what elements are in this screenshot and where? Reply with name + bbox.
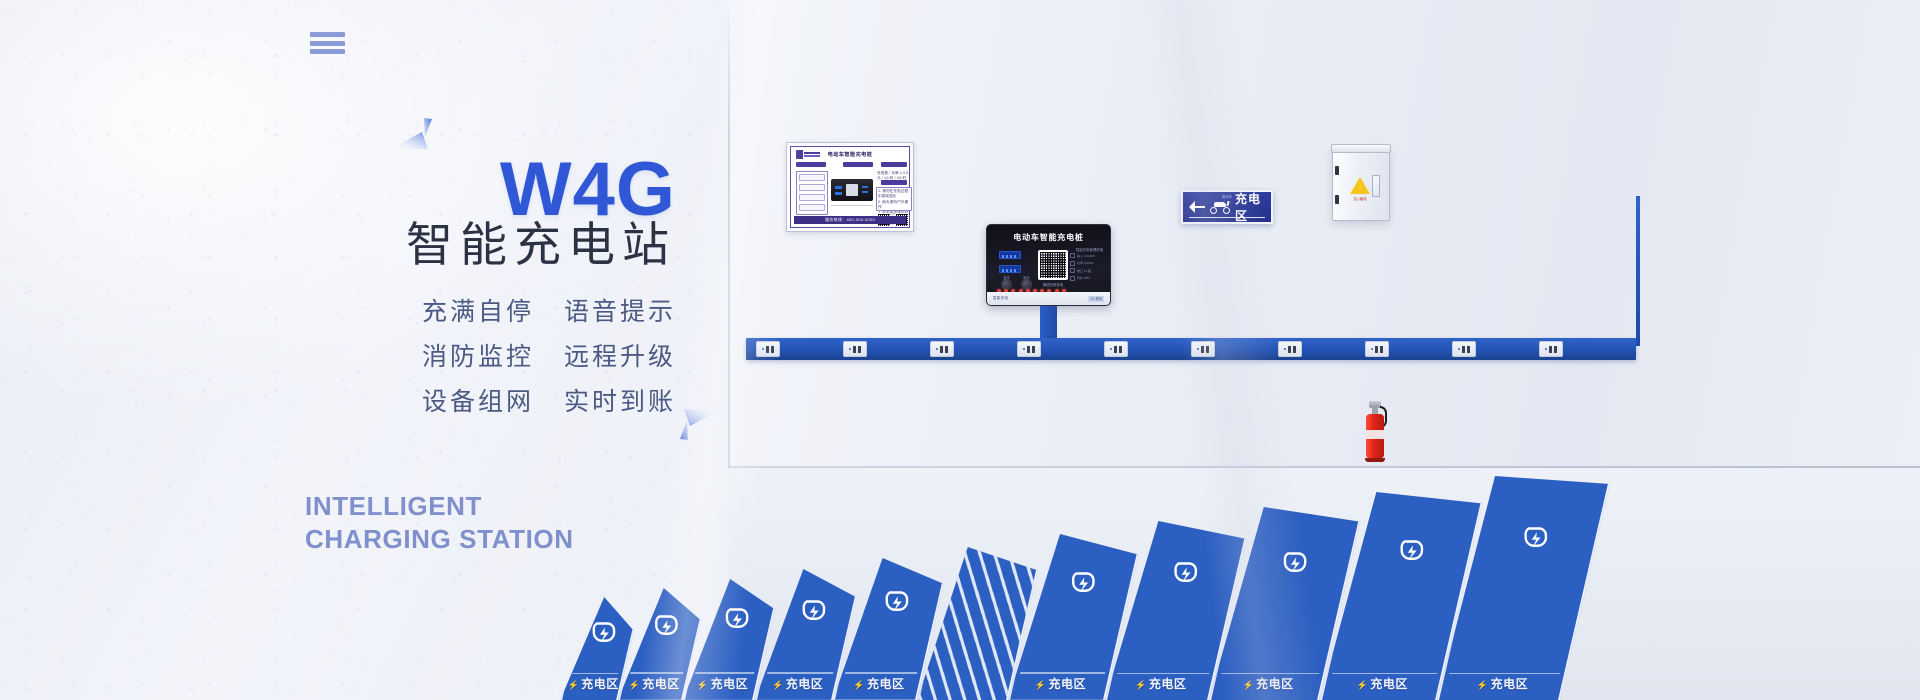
charging-pile-spec-row: 功率 1200W	[1070, 261, 1104, 266]
poster-section-right-bar	[881, 162, 907, 167]
poster-device-illustration	[831, 179, 873, 201]
charging-pile-qr-caption: 微信扫码充电	[1031, 282, 1075, 287]
parking-bay-label: ⚡充电区	[1442, 675, 1561, 692]
fire-extinguisher-icon	[1363, 400, 1387, 462]
parking-bay-stripe	[695, 673, 755, 675]
parking-bay-stripe	[1332, 673, 1437, 675]
parking-bay-label: ⚡充电区	[1325, 675, 1438, 692]
poster-price-text: 充电费 / 功率 ≤ 0.5元 / 1小时 / 4小时	[877, 171, 911, 182]
direction-sign-underline	[1189, 217, 1265, 218]
parking-bay-stripe	[572, 673, 619, 675]
scooter-icon	[1210, 201, 1230, 214]
power-socket-icon[interactable]	[1191, 341, 1215, 357]
parking-bay-label: ⚡充电区	[624, 675, 685, 692]
feature-list: 充满自停 语音提示 消防监控 远程升级 设备组网 实时到账	[422, 292, 676, 418]
power-socket-icon[interactable]	[1365, 341, 1389, 357]
charging-plug-icon	[799, 598, 829, 626]
extinguisher-label-band	[1366, 430, 1384, 439]
hero-banner: W4G 智能充电站 充满自停 语音提示 消防监控 远程升级 设备组网 实时到账 …	[0, 0, 1920, 700]
poster-footer-text: 服务热线：400-000-0000	[825, 217, 875, 223]
parking-bay-label: ⚡充电区	[1215, 675, 1321, 692]
cabinet-warning-text: 当心触电	[1345, 196, 1375, 201]
parking-bay-stripe	[1449, 673, 1561, 675]
direction-sign: 电动车 充电区	[1181, 190, 1273, 224]
charging-pile-display-2	[999, 265, 1021, 273]
charging-pile-brand: 智能充电	[993, 296, 1008, 301]
power-socket-icon[interactable]	[1104, 341, 1128, 357]
rail-power-feed-line	[1636, 196, 1640, 346]
power-socket-icon[interactable]	[756, 341, 780, 357]
feature-item-1: 充满自停	[422, 292, 534, 328]
charging-pile-display-1	[999, 251, 1021, 259]
power-socket-icon[interactable]	[1278, 341, 1302, 357]
left-arrow-icon	[1189, 201, 1205, 213]
charging-pile-mount-stem	[1040, 306, 1057, 342]
charging-pile-card-label: 刷卡	[1018, 275, 1035, 280]
parking-bay-stripe	[767, 673, 833, 675]
parking-lot: ⚡充电区⚡充电区⚡充电区⚡充电区⚡充电区⚡充电区⚡充电区⚡充电区⚡充电区⚡充电区	[560, 462, 1560, 700]
wall-corner-edge	[728, 0, 730, 470]
feature-item-5: 设备组网	[422, 382, 534, 418]
page-subtitle: 智能充电站	[406, 215, 676, 275]
power-socket-icon[interactable]	[1017, 341, 1041, 357]
charging-plug-icon	[1171, 560, 1201, 588]
parking-bay-stripe	[1020, 673, 1106, 675]
cabinet-hinge-lower	[1335, 195, 1339, 204]
poster-section-left-bar	[796, 162, 826, 167]
charging-pile-device[interactable]: 电动车智能充电桩 智能充电管理终端 微信扫码充电 投币 刷卡 输入 AC220V…	[986, 224, 1111, 306]
power-socket-icon[interactable]	[930, 341, 954, 357]
poster-footer: 服务热线：400-000-0000	[794, 216, 906, 224]
charging-plug-icon	[1520, 525, 1550, 553]
charging-pile-title: 电动车智能充电桩	[987, 232, 1110, 243]
parking-bay-stripe	[1117, 673, 1209, 675]
power-socket-icon[interactable]	[1539, 341, 1563, 357]
poster-device-caption-line	[831, 205, 873, 206]
electrical-cabinet: 当心触电	[1332, 147, 1390, 221]
parking-bay-label: ⚡充电区	[1111, 675, 1211, 692]
charging-plug-icon	[882, 589, 912, 617]
parking-bay-stripe	[1221, 673, 1320, 675]
poster-header: 电动车智能充电桩	[796, 150, 904, 159]
parking-bay-label: ⚡充电区	[566, 675, 620, 692]
poster-spec-step-3	[799, 194, 825, 201]
power-socket-icon[interactable]	[843, 341, 867, 357]
parking-bay-stripe	[630, 673, 683, 675]
charging-plug-icon	[653, 613, 683, 641]
charging-plug-icon	[1068, 571, 1098, 599]
feature-item-4: 远程升级	[564, 337, 676, 373]
parking-bay-stripe	[845, 673, 918, 675]
high-voltage-warning-icon	[1350, 177, 1370, 194]
charging-pile-spec-row: 输入 AC220V	[1070, 253, 1104, 258]
charging-pile-footer: 智能充电 4G 联网	[987, 292, 1110, 305]
charging-pile-spec-column: 输入 AC220V 功率 1200W 端口 10 路 防护 IP54	[1070, 253, 1104, 281]
poster-frame: 电动车智能充电桩 1. 请勿在充电过程中拔除插头2. 雨天请勿户外操作3.	[790, 146, 910, 228]
charging-pile-spec-row: 防护 IP54	[1070, 276, 1104, 281]
english-title-line1: INTELLIGENT	[305, 490, 574, 523]
charging-plug-icon	[722, 606, 752, 634]
parking-bay-label: ⚡充电区	[689, 675, 756, 692]
cabinet-top-cap	[1331, 144, 1391, 153]
feature-item-2: 语音提示	[564, 292, 676, 328]
feature-item-3: 消防监控	[422, 337, 534, 373]
poster-title: 电动车智能充电桩	[796, 151, 904, 158]
poster-spec-step-2	[799, 184, 825, 191]
wall-socket-rail	[746, 338, 1636, 360]
parking-bay-label: ⚡充电区	[838, 675, 918, 692]
direction-sign-caption: 电动车	[1183, 194, 1271, 199]
wall-poster: 电动车智能充电桩 1. 请勿在充电过程中拔除插头2. 雨天请勿户外操作3.	[786, 142, 914, 232]
poster-spec-step-1	[799, 174, 825, 181]
charging-plug-icon	[1281, 549, 1311, 577]
charging-pile-spec-row: 端口 10 路	[1070, 268, 1104, 273]
poster-spec-step-4	[799, 204, 825, 211]
english-title: INTELLIGENT CHARGING STATION	[305, 490, 574, 557]
charging-pile-badge: 4G 联网	[1088, 296, 1104, 302]
parking-bay-label: ⚡充电区	[1014, 675, 1107, 692]
cabinet-hinge-upper	[1335, 166, 1339, 175]
charging-plug-icon	[590, 619, 620, 647]
english-title-line2: CHARGING STATION	[305, 523, 574, 556]
feature-item-6: 实时到账	[564, 382, 676, 418]
cabinet-vent-panel	[1372, 175, 1380, 197]
poster-section-mid-bar	[843, 162, 873, 167]
charging-pile-subtitle: 智能充电管理终端	[1076, 247, 1103, 252]
charging-pile-coin-label: 投币	[998, 275, 1015, 280]
parking-bay-label: ⚡充电区	[760, 675, 834, 692]
power-socket-icon[interactable]	[1452, 341, 1476, 357]
charging-plug-icon	[1397, 538, 1427, 566]
charging-pile-qr-code[interactable]	[1038, 250, 1068, 280]
